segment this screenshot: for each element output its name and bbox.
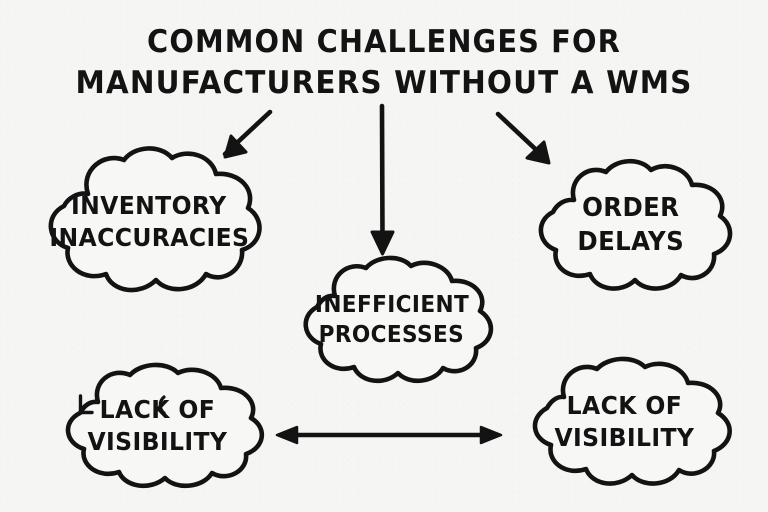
arrow-visibility-left-to-right — [277, 427, 501, 443]
page-title: COMMON CHALLENGES FOR MANUFACTURERS WITH… — [0, 22, 768, 104]
cloud-shape — [30, 146, 268, 298]
cloud-lack-of-visibility-left[interactable]: LACK OF VISIBILITY — [42, 362, 272, 490]
title-line-2: MANUFACTURERS WITHOUT A WMS — [19, 63, 749, 104]
cloud-shape — [508, 356, 740, 488]
cloud-shape — [281, 255, 502, 385]
title-line-1: COMMON CHALLENGES FOR — [27, 22, 741, 63]
cloud-order-delays[interactable]: ORDER DELAYS — [522, 158, 740, 292]
cloud-shape — [522, 158, 740, 292]
cloud-inventory-inaccuracies[interactable]: INVENTORY INACCURACIES — [30, 146, 268, 298]
cloud-shape — [42, 362, 272, 490]
cloud-lack-of-visibility-right[interactable]: LACK OF VISIBILITY — [508, 356, 740, 488]
arrow-title-to-order — [498, 114, 549, 163]
diagram-canvas: COMMON CHALLENGES FOR MANUFACTURERS WITH… — [0, 0, 768, 512]
arrow-title-to-inefficient — [372, 106, 393, 254]
cloud-inefficient-processes[interactable]: INEFFICIENT PROCESSES — [281, 255, 502, 385]
